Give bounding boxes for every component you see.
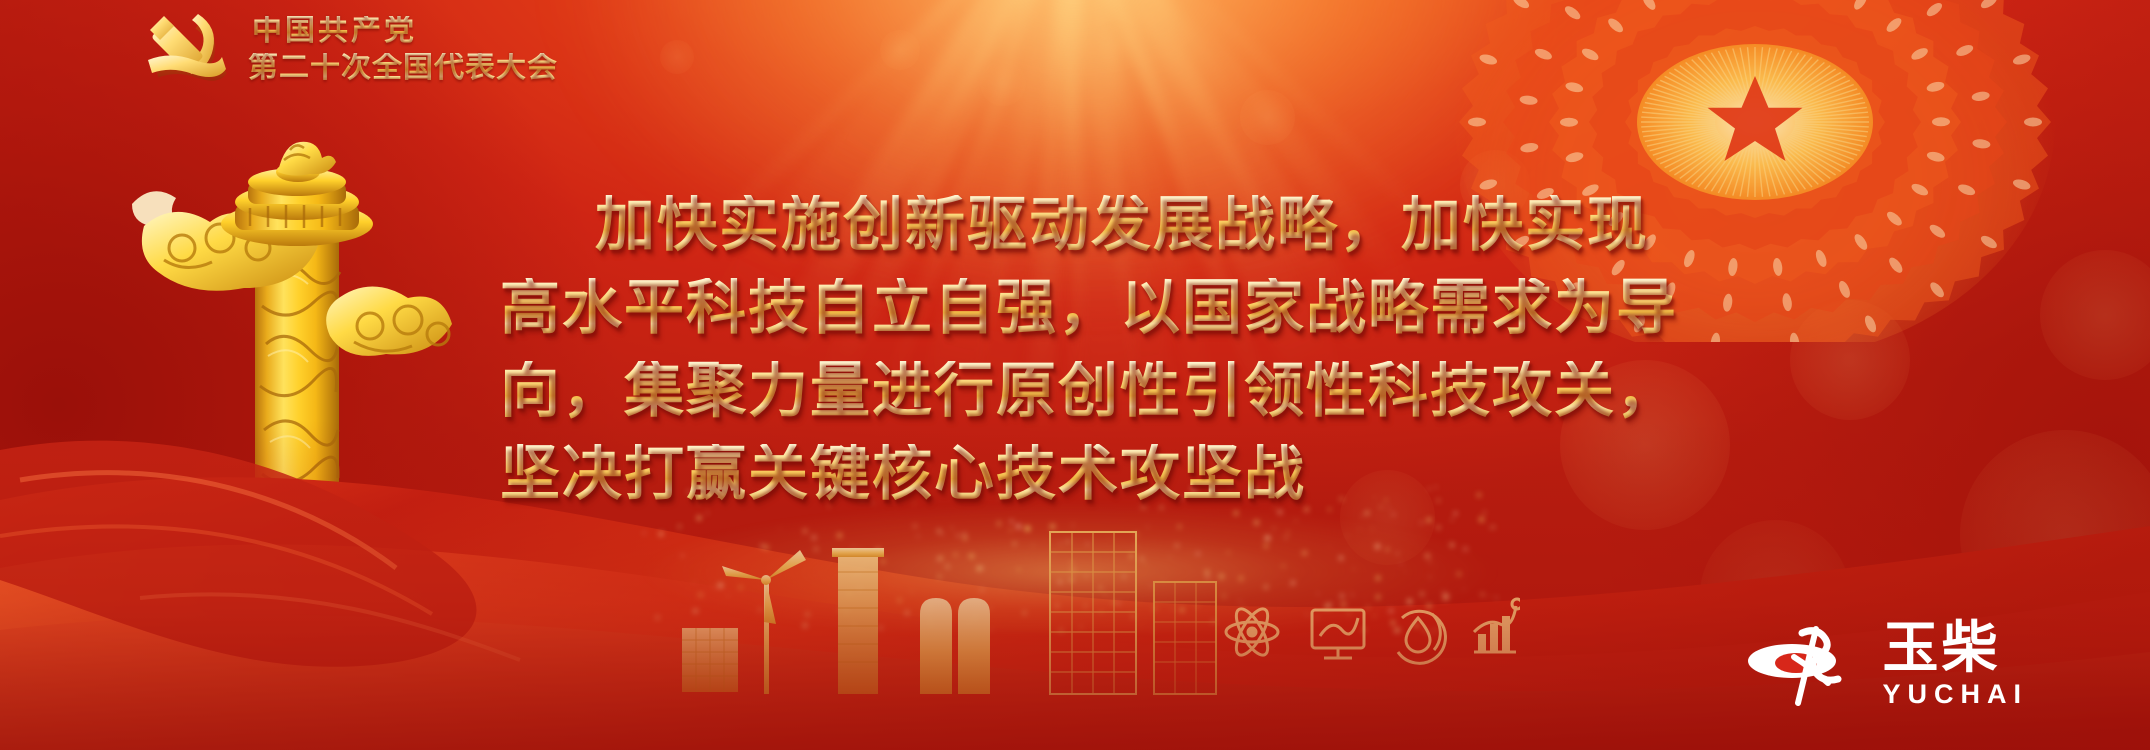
- yuchai-name-cn: 玉柴: [1882, 620, 2000, 676]
- headline-line-2: 高水平科技自立自强，以国家战略需求为导: [500, 278, 1760, 338]
- yuchai-logo: 玉柴 YUCHAI: [1746, 620, 2028, 708]
- yuchai-name-en: YUCHAI: [1882, 681, 2028, 708]
- headline-line-3: 向，集聚力量进行原创性引领性科技攻关，: [500, 361, 1760, 421]
- cpc-logo-line2: 第二十次全国代表大会: [248, 53, 558, 83]
- cpc-logo-line1: 中国共产党: [248, 16, 558, 46]
- banner-root: 中国共产党 第二十次全国代表大会 加快实施创新驱动发展战略，加快实现 高水平科技…: [0, 0, 2150, 750]
- cpc-logo-text: 中国共产党 第二十次全国代表大会: [248, 16, 558, 83]
- yuchai-logo-text: 玉柴 YUCHAI: [1882, 620, 2028, 708]
- headline-line-4: 坚决打赢关键核心技术攻坚战: [500, 444, 1760, 504]
- cpc-congress-logo: 中国共产党 第二十次全国代表大会: [140, 6, 558, 92]
- headline-block: 加快实施创新驱动发展战略，加快实现 高水平科技自立自强，以国家战略需求为导 向，…: [500, 195, 1760, 504]
- hammer-and-sickle-emblem: [140, 6, 232, 92]
- headline-line-1: 加快实施创新驱动发展战略，加快实现: [500, 195, 1760, 255]
- yuchai-ellipse-mark: [1746, 621, 1866, 707]
